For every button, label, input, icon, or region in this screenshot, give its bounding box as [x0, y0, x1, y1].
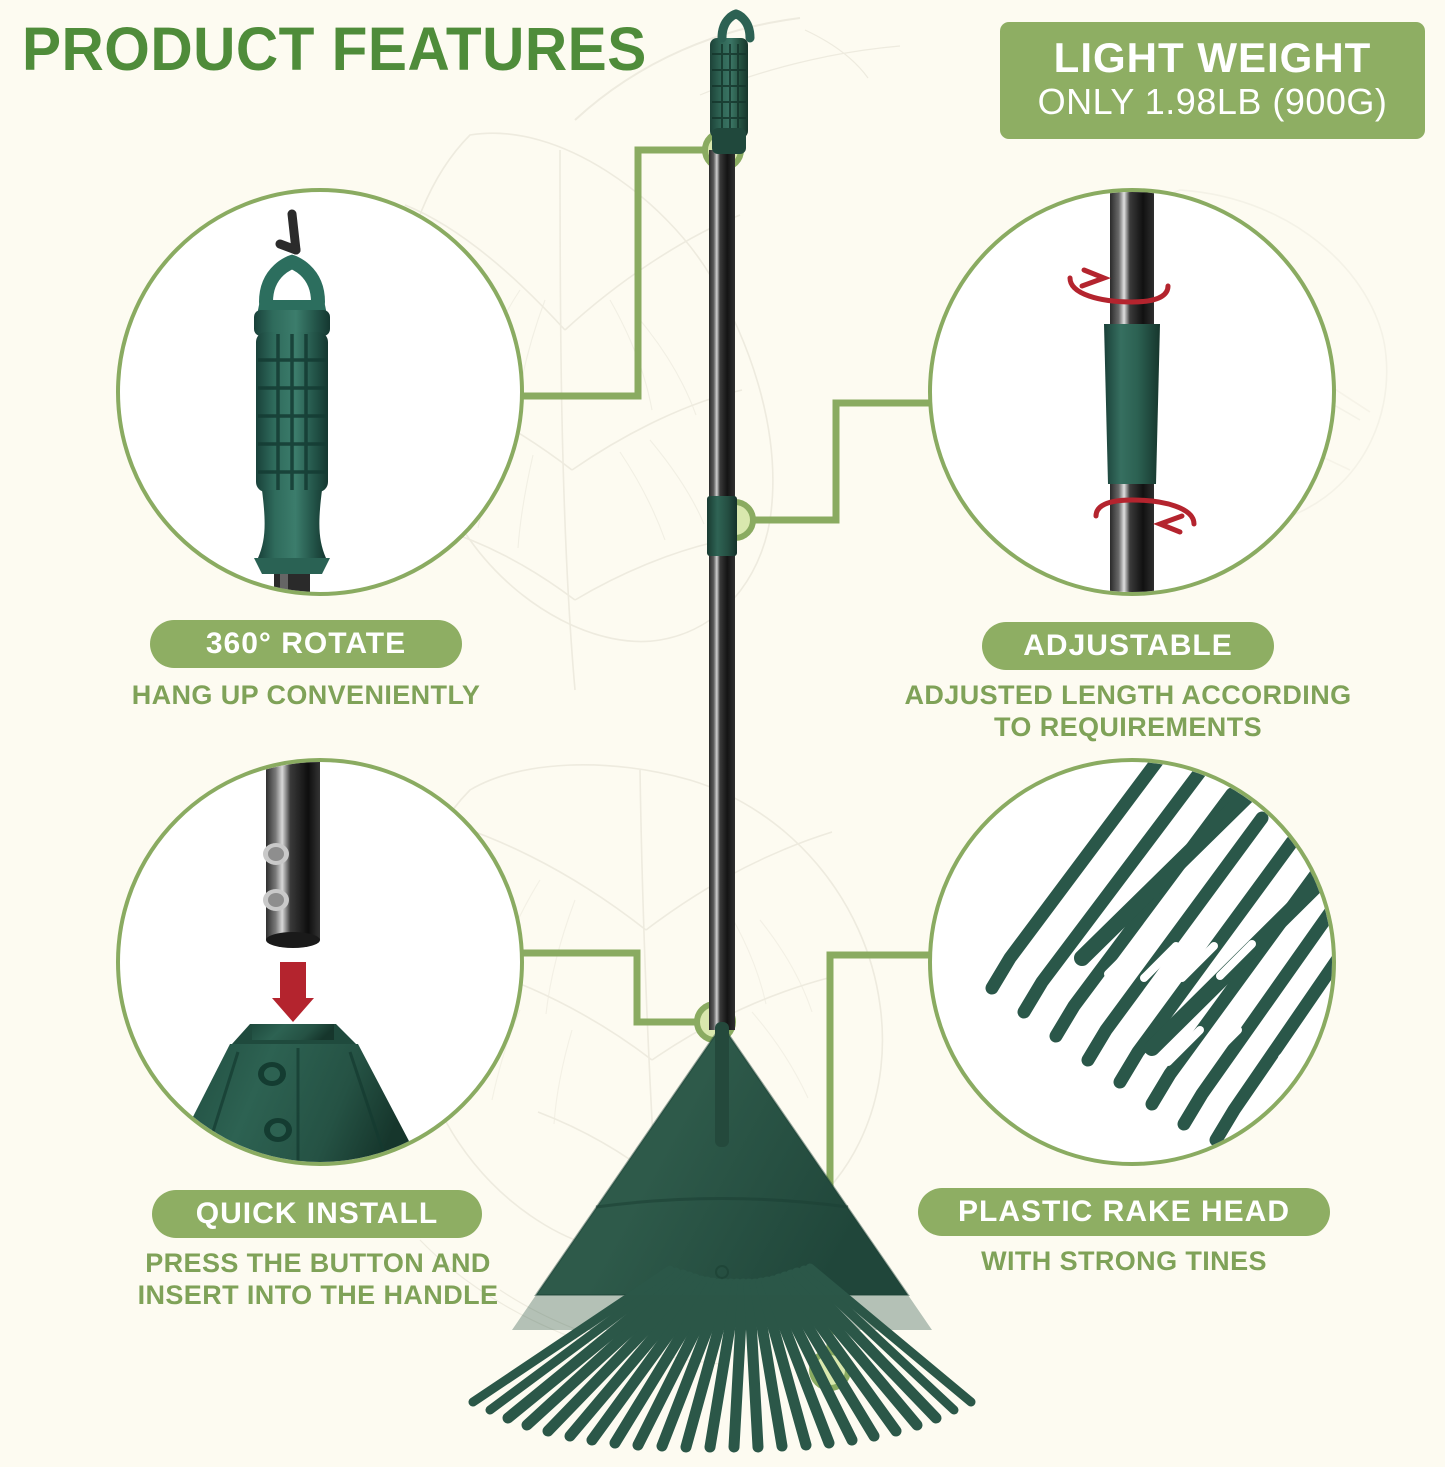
callout-circle-quick-install [116, 758, 524, 1166]
page-title: PRODUCT FEATURES [22, 14, 647, 84]
snap-button-insert-icon [120, 762, 520, 1162]
infographic-canvas: PRODUCT FEATURES LIGHT WEIGHT ONLY 1.98L… [0, 0, 1445, 1467]
feature-pill-rake-head: PLASTIC RAKE HEAD [918, 1188, 1330, 1236]
rake-tines-icon [932, 762, 1332, 1162]
badge-line-2: ONLY 1.98LB (900G) [1038, 82, 1388, 122]
badge-line-1: LIGHT WEIGHT [1054, 36, 1372, 80]
feature-pill-adjustable: ADJUSTABLE [982, 622, 1274, 670]
connector-dot [697, 132, 848, 1388]
feature-subtitle-adjustable: ADJUSTED LENGTH ACCORDING TO REQUIREMENT… [880, 680, 1376, 744]
callout-circle-rotate [116, 188, 524, 596]
rotating-collar-icon [932, 192, 1332, 592]
feature-subtitle-quick-install: PRESS THE BUTTON AND INSERT INTO THE HAN… [100, 1248, 536, 1312]
light-weight-badge: LIGHT WEIGHT ONLY 1.98LB (900G) [1000, 22, 1425, 139]
feature-subtitle-rotate: HANG UP CONVENIENTLY [76, 680, 536, 712]
handle-hook-icon [120, 192, 520, 592]
feature-pill-quick-install: QUICK INSTALL [152, 1190, 482, 1238]
handle-grip [708, 14, 750, 154]
callout-circle-adjustable [928, 188, 1336, 596]
fan-rake-head [473, 1022, 971, 1447]
callout-circle-rake-head [928, 758, 1336, 1166]
feature-pill-rotate: 360° ROTATE [150, 620, 462, 668]
feature-subtitle-rake-head: WITH STRONG TINES [920, 1246, 1328, 1278]
